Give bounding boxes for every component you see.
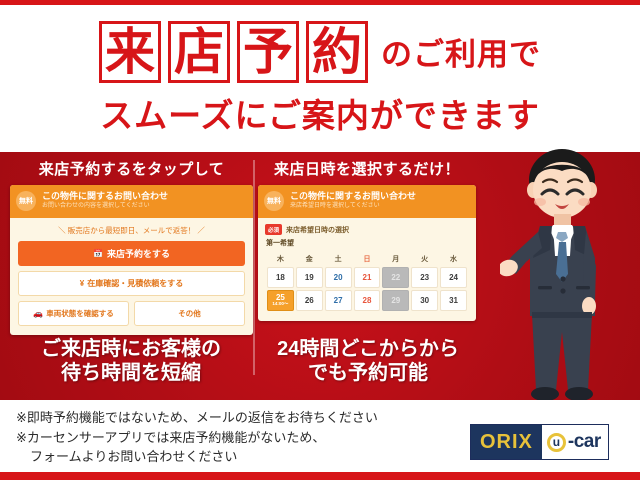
header-line-1: 来 店 予 約 のご利用で (99, 21, 541, 83)
date-picker-calendar[interactable]: 木 金 土 日 月 火 水 18 19 20 (265, 251, 469, 313)
reserve-visit-label: 来店予約をする (107, 247, 170, 260)
vehicle-condition-button[interactable]: 🚗 車両状態を確認する (18, 301, 129, 326)
calendar-day[interactable]: 26 (296, 290, 323, 311)
reserve-visit-button[interactable]: 📅 来店予約をする (18, 241, 245, 266)
first-choice-label: 第一希望 (266, 238, 469, 248)
left-caption-line-2: 待ち時間を短縮 (6, 362, 256, 386)
left-column-title: 来店予約するをタップして (10, 158, 253, 179)
orix-wordmark: ORIX (471, 425, 542, 459)
ucar-wordmark: u -car (542, 425, 608, 459)
calendar-day[interactable]: 21 (354, 267, 381, 288)
header-block: 来 店 予 約 のご利用で スムーズにご案内ができます (0, 5, 640, 152)
right-caption-line-1: 24時間どこからから (258, 338, 478, 362)
calendar-mockup-header: 無料 この物件に関するお問い合わせ 来店希望日時を選択してください (258, 185, 476, 218)
footer-note-1: ※即時予約機能ではないため、メールの返信をお待ちください (16, 408, 456, 428)
kanji-box-3: 予 (237, 21, 299, 83)
other-label: その他 (178, 308, 201, 319)
footer-notes: ※即時予約機能ではないため、メールの返信をお待ちください ※カーセンサーアプリで… (16, 408, 456, 467)
free-badge: 無料 (264, 191, 284, 211)
businessman-illustration (500, 146, 625, 404)
orix-ucar-logo: ORIX u -car (470, 424, 609, 460)
calendar-day[interactable]: 23 (411, 267, 438, 288)
advertisement-banner: 来 店 予 約 のご利用で スムーズにご案内ができます 来店予約するをタップして… (0, 0, 640, 480)
right-column-title: 来店日時を選択するだけ！ (258, 158, 476, 179)
calendar-mockup-subtitle: 来店希望日時を選択してください (290, 203, 470, 210)
calendar-day-disabled: 29 (382, 290, 409, 311)
footer-note-2: ※カーセンサーアプリでは来店予約機能がないため、 (16, 428, 456, 448)
left-column: 来店予約するをタップして 無料 この物件に関するお問い合わせ お問い合わせの内容… (10, 158, 253, 335)
right-caption-line-2: でも予約可能 (258, 362, 478, 386)
ucar-text: -car (568, 431, 601, 453)
stock-quote-label: 在庫確認・見積依頼をする (87, 278, 183, 289)
inquiry-form-mockup: 無料 この物件に関するお問い合わせ お問い合わせの内容を選択してください ＼ 販… (10, 185, 253, 335)
calendar-week-row: 25 14:00〜 26 27 28 29 30 31 (267, 290, 467, 311)
mockup-subtitle: お問い合わせの内容を選択してください (42, 203, 247, 210)
stock-quote-button[interactable]: ¥ 在庫確認・見積依頼をする (18, 271, 245, 296)
vehicle-condition-label: 車両状態を確認する (46, 308, 114, 319)
yen-icon: ¥ (80, 279, 84, 288)
calendar-day[interactable]: 27 (325, 290, 352, 311)
car-icon: 🚗 (33, 309, 43, 318)
ucar-u-circle-icon: u (547, 433, 566, 452)
calendar-mockup-title: この物件に関するお問い合わせ (290, 192, 470, 202)
calendar-week-row: 18 19 20 21 22 23 24 (267, 267, 467, 288)
reply-note: ＼ 販売店から最短即日、メールで返答！ ／ (10, 218, 253, 241)
mockup-header: 無料 この物件に関するお問い合わせ お問い合わせの内容を選択してください (10, 185, 253, 218)
left-caption: ご来店時にお客様の 待ち時間を短縮 (6, 338, 256, 385)
right-caption: 24時間どこからから でも予約可能 (258, 338, 478, 385)
weekday-tue: 火 (411, 253, 438, 265)
kanji-box-2: 店 (168, 21, 230, 83)
weekday-thu: 木 (267, 253, 294, 265)
calendar-day[interactable]: 30 (411, 290, 438, 311)
calendar-form-mockup: 無料 この物件に関するお問い合わせ 来店希望日時を選択してください 必須 来店希… (258, 185, 476, 321)
kanji-box-1: 来 (99, 21, 161, 83)
bottom-red-rule (0, 472, 640, 480)
kanji-box-4: 約 (306, 21, 368, 83)
calendar-day[interactable]: 24 (440, 267, 467, 288)
calendar-day-selected[interactable]: 25 14:00〜 (267, 290, 294, 311)
header-line-2: スムーズにご案内ができます (100, 89, 540, 137)
calendar-section-label: 来店希望日時の選択 (286, 225, 349, 235)
calendar-day[interactable]: 18 (267, 267, 294, 288)
weekday-mon: 月 (382, 253, 409, 265)
calendar-weekday-row: 木 金 土 日 月 火 水 (267, 253, 467, 265)
calendar-icon: 📅 (93, 249, 103, 258)
weekday-sun: 日 (354, 253, 381, 265)
calendar-day[interactable]: 28 (354, 290, 381, 311)
required-badge: 必須 (265, 224, 282, 235)
calendar-day[interactable]: 19 (296, 267, 323, 288)
header-tail-text: のご利用で (381, 29, 541, 74)
mockup-title: この物件に関するお問い合わせ (42, 192, 247, 202)
free-badge: 無料 (16, 191, 36, 211)
left-caption-line-1: ご来店時にお客様の (6, 338, 256, 362)
weekday-sat: 土 (325, 253, 352, 265)
calendar-day-disabled: 22 (382, 267, 409, 288)
calendar-day[interactable]: 20 (325, 267, 352, 288)
right-column: 来店日時を選択するだけ！ 無料 この物件に関するお問い合わせ 来店希望日時を選択… (258, 158, 476, 321)
selected-day-time: 14:00〜 (268, 302, 293, 307)
weekday-fri: 金 (296, 253, 323, 265)
footer-note-3: フォームよりお問い合わせください (16, 447, 456, 467)
calendar-day[interactable]: 31 (440, 290, 467, 311)
weekday-wed: 水 (440, 253, 467, 265)
other-button[interactable]: その他 (134, 301, 245, 326)
